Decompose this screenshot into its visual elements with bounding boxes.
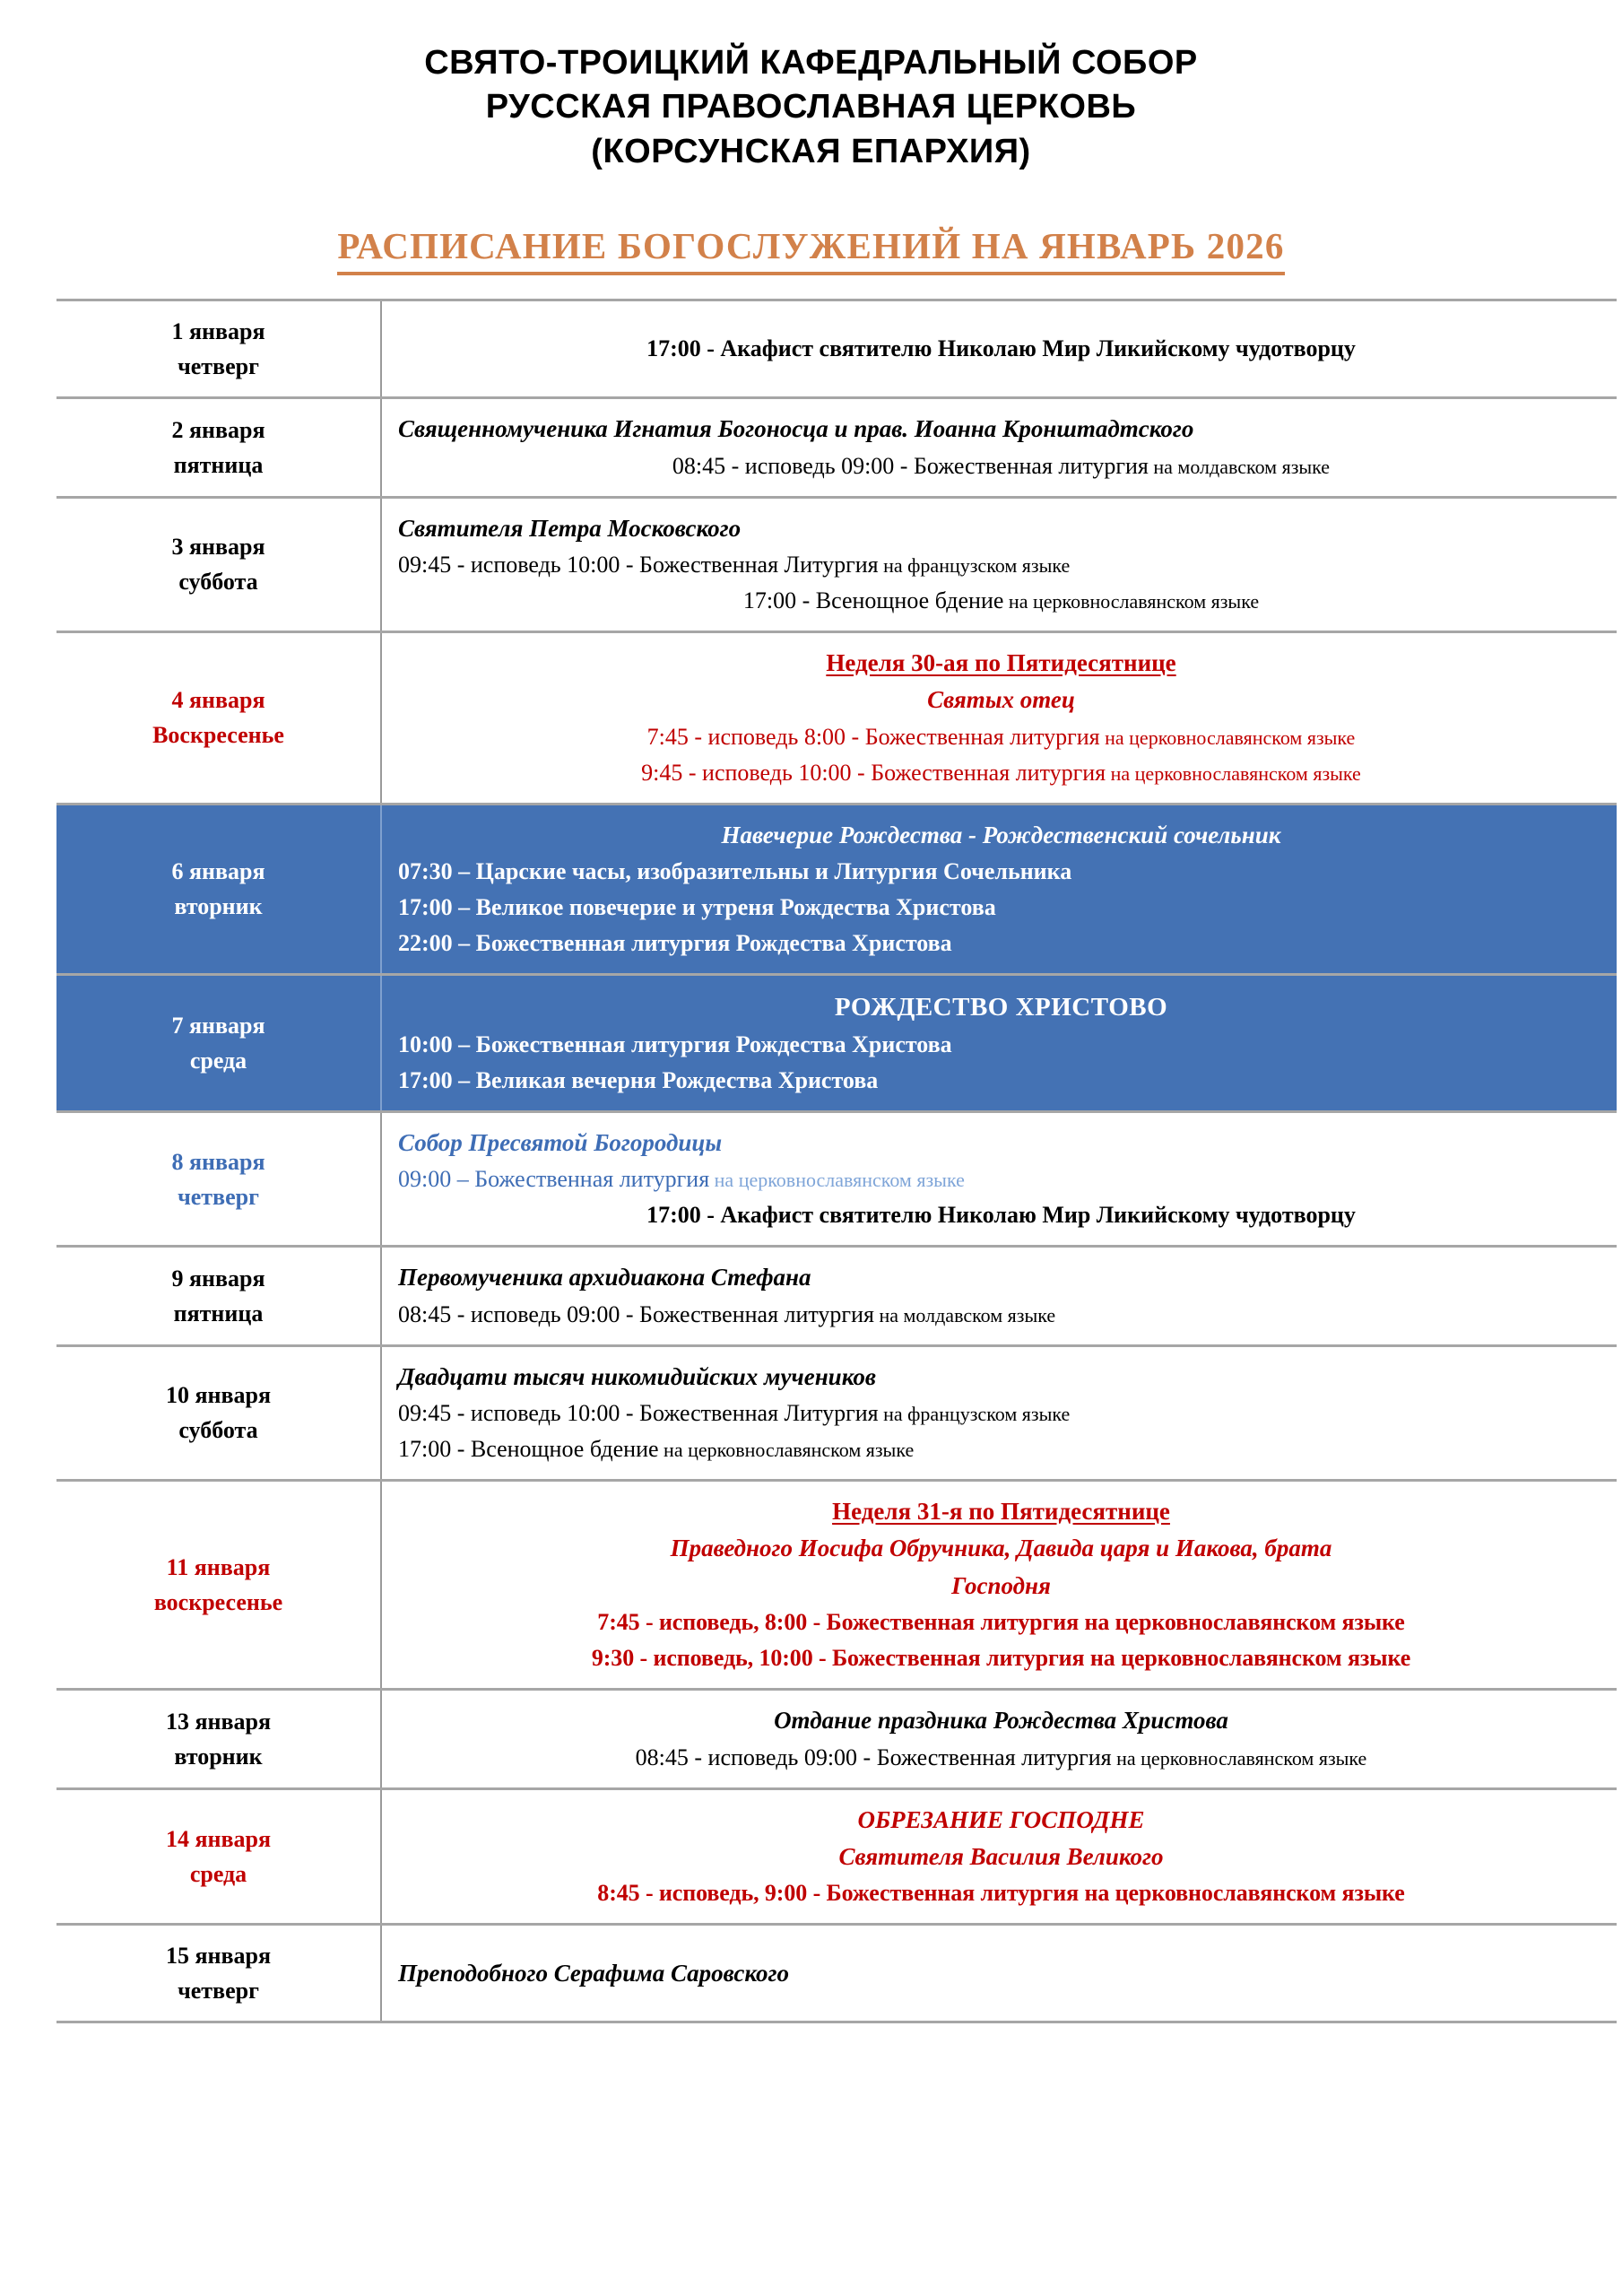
date-cell: 10 января суббота [56, 1345, 381, 1480]
date-weekday: четверг [65, 349, 371, 384]
date-weekday: вторник [65, 1739, 371, 1774]
service-line: 9:45 - исповедь 10:00 - Божественная лит… [398, 756, 1604, 790]
service-line: 17:00 - Акафист святителю Николаю Мир Ли… [398, 332, 1604, 366]
services-cell: Собор Пресвятой Богородицы 09:00 – Божес… [381, 1112, 1617, 1247]
service-line: 8:45 - исповедь, 9:00 - Божественная лит… [398, 1876, 1604, 1910]
date-cell: 4 января Воскресенье [56, 631, 381, 804]
services-cell: ОБРЕЗАНИЕ ГОСПОДНЕ Святителя Василия Вел… [381, 1788, 1617, 1925]
service-language: на церковнославянском языке [709, 1169, 965, 1191]
date-weekday: воскресенье [65, 1585, 371, 1620]
date-cell: 14 января среда [56, 1788, 381, 1925]
services-cell: Двадцати тысяч никомидийских мучеников 0… [381, 1345, 1617, 1480]
services-cell: 17:00 - Акафист святителю Николаю Мир Ли… [381, 300, 1617, 398]
feast-subheading: Святителя Василия Великого [398, 1839, 1604, 1874]
date-day: 2 января [65, 413, 371, 448]
date-day: 11 января [65, 1550, 371, 1585]
service-text: 17:00 - Всенощное бдение [743, 587, 1004, 613]
date-day: 9 января [65, 1261, 371, 1296]
date-weekday: пятница [65, 1296, 371, 1331]
date-weekday: суббота [65, 1413, 371, 1448]
services-cell: Отдание праздника Рождества Христова 08:… [381, 1690, 1617, 1788]
service-language: на церковнославянском языке [1106, 762, 1361, 785]
feast-heading: Отдание праздника Рождества Христова [398, 1703, 1604, 1738]
cathedral-name-line-1: СВЯТО-ТРОИЦКИЙ КАФЕДРАЛЬНЫЙ СОБОР [0, 41, 1622, 85]
services-cell: Первомученика архидиакона Стефана 08:45 … [381, 1247, 1617, 1345]
feast-heading: Преподобного Серафима Саровского [398, 1956, 1604, 1991]
date-cell: 8 января четверг [56, 1112, 381, 1247]
table-row: 4 января Воскресенье Неделя 30-ая по Пят… [56, 631, 1617, 804]
table-row: 14 января среда ОБРЕЗАНИЕ ГОСПОДНЕ Святи… [56, 1788, 1617, 1925]
service-line: 17:00 - Всенощное бдение на церковнослав… [398, 1432, 1604, 1466]
services-cell: Преподобного Серафима Саровского [381, 1925, 1617, 2022]
schedule-page: СВЯТО-ТРОИЦКИЙ КАФЕДРАЛЬНЫЙ СОБОР РУССКА… [0, 0, 1622, 2296]
schedule-table-body: 1 января четверг 17:00 - Акафист святите… [56, 300, 1617, 2022]
service-line: 22:00 – Божественная литургия Рождества … [398, 926, 1604, 961]
date-day: 14 января [65, 1822, 371, 1857]
service-line: 9:30 - исповедь, 10:00 - Божественная ли… [398, 1641, 1604, 1675]
date-day: 7 января [65, 1008, 371, 1043]
sunday-heading: Неделя 31-я по Пятидесятнице [398, 1494, 1604, 1529]
date-cell: 11 января воскресенье [56, 1481, 381, 1690]
service-language: на молдавском языке [1149, 456, 1330, 478]
service-text: 08:45 - исповедь 09:00 - Божественная ли… [636, 1744, 1112, 1770]
date-cell: 9 января пятница [56, 1247, 381, 1345]
date-day: 13 января [65, 1704, 371, 1739]
service-text: 09:45 - исповедь 10:00 - Божественная Ли… [398, 552, 879, 578]
service-line: 17:00 – Великая вечерня Рождества Христо… [398, 1064, 1604, 1098]
service-line: 17:00 – Великое повечерие и утреня Рожде… [398, 891, 1604, 925]
service-line: 08:45 - исповедь 09:00 - Божественная ли… [398, 1741, 1604, 1775]
feast-heading: Навечерие Рождества - Рождественский соч… [398, 818, 1604, 853]
service-line: 09:45 - исповедь 10:00 - Божественная Ли… [398, 1396, 1604, 1431]
services-cell: Неделя 30-ая по Пятидесятнице Святых оте… [381, 631, 1617, 804]
service-line: 17:00 - Всенощное бдение на церковнослав… [398, 584, 1604, 618]
services-cell: РОЖДЕСТВО ХРИСТОВО 10:00 – Божественная … [381, 974, 1617, 1111]
date-weekday: пятница [65, 448, 371, 483]
service-line: 09:00 – Божественная литургия на церковн… [398, 1162, 1604, 1196]
date-weekday: среда [65, 1857, 371, 1892]
church-name-line-2: РУССКАЯ ПРАВОСЛАВНАЯ ЦЕРКОВЬ [0, 85, 1622, 129]
date-day: 6 января [65, 854, 371, 889]
table-row: 9 января пятница Первомученика архидиако… [56, 1247, 1617, 1345]
service-language: на французском языке [879, 554, 1071, 577]
date-weekday: суббота [65, 564, 371, 599]
service-text: 08:45 - исповедь 09:00 - Божественная ли… [398, 1301, 874, 1327]
service-text: 08:45 - исповедь 09:00 - Божественная ли… [672, 453, 1149, 479]
service-text: 09:45 - исповедь 10:00 - Божественная Ли… [398, 1400, 879, 1426]
date-day: 1 января [65, 314, 371, 349]
services-cell: Священномученика Игнатия Богоносца и пра… [381, 398, 1617, 497]
date-day: 10 января [65, 1378, 371, 1413]
schedule-title-container: РАСПИСАНИЕ БОГОСЛУЖЕНИЙ НА ЯНВАРЬ 2026 [0, 224, 1622, 275]
date-weekday: вторник [65, 889, 371, 924]
feast-heading: Праведного Иосифа Обручника, Давида царя… [398, 1531, 1604, 1566]
feast-heading: Святых отец [398, 683, 1604, 717]
table-row: 13 января вторник Отдание праздника Рожд… [56, 1690, 1617, 1788]
feast-heading-cont: Господня [398, 1569, 1604, 1604]
date-day: 8 января [65, 1144, 371, 1179]
feast-heading: РОЖДЕСТВО ХРИСТОВО [398, 988, 1604, 1026]
service-language: на французском языке [879, 1403, 1071, 1425]
service-text: 9:45 - исповедь 10:00 - Божественная лит… [641, 760, 1106, 786]
service-schedule-table: 1 января четверг 17:00 - Акафист святите… [56, 299, 1617, 2023]
table-row: 2 января пятница Священномученика Игнати… [56, 398, 1617, 497]
sunday-heading: Неделя 30-ая по Пятидесятнице [398, 646, 1604, 681]
table-row: 8 января четверг Собор Пресвятой Богород… [56, 1112, 1617, 1247]
date-day: 3 января [65, 529, 371, 564]
date-day: 15 января [65, 1938, 371, 1973]
date-weekday: Воскресенье [65, 717, 371, 752]
date-cell: 3 января суббота [56, 497, 381, 631]
feast-heading: Первомученика архидиакона Стефана [398, 1260, 1604, 1295]
service-line: 08:45 - исповедь 09:00 - Божественная ли… [398, 1298, 1604, 1332]
service-line: 07:30 – Царские часы, изобразительны и Л… [398, 855, 1604, 889]
service-line: 7:45 - исповедь, 8:00 - Божественная лит… [398, 1605, 1604, 1639]
service-language: на церковнославянском языке [1112, 1747, 1367, 1770]
feast-heading: Священномученика Игнатия Богоносца и пра… [398, 412, 1604, 447]
table-row: 1 января четверг 17:00 - Акафист святите… [56, 300, 1617, 398]
schedule-title: РАСПИСАНИЕ БОГОСЛУЖЕНИЙ НА ЯНВАРЬ 2026 [337, 224, 1284, 275]
feast-heading: Святителя Петра Московского [398, 511, 1604, 546]
diocese-name-line-3: (КОРСУНСКАЯ ЕПАРХИЯ) [0, 130, 1622, 174]
service-text: 17:00 - Всенощное бдение [398, 1436, 659, 1462]
service-line: 17:00 - Акафист святителю Николаю Мир Ли… [398, 1198, 1604, 1232]
feast-heading: Собор Пресвятой Богородицы [398, 1126, 1604, 1161]
masthead: СВЯТО-ТРОИЦКИЙ КАФЕДРАЛЬНЫЙ СОБОР РУССКА… [0, 0, 1622, 174]
date-cell: 7 января среда [56, 974, 381, 1111]
date-cell: 6 января вторник [56, 804, 381, 974]
date-weekday: четверг [65, 1179, 371, 1214]
service-language: на церковнославянском языке [659, 1439, 915, 1461]
table-row: 11 января воскресенье Неделя 31-я по Пят… [56, 1481, 1617, 1690]
table-row: 3 января суббота Святителя Петра Московс… [56, 497, 1617, 631]
service-line: 08:45 - исповедь 09:00 - Божественная ли… [398, 449, 1604, 483]
feast-heading: Двадцати тысяч никомидийских мучеников [398, 1360, 1604, 1395]
service-line: 09:45 - исповедь 10:00 - Божественная Ли… [398, 548, 1604, 582]
date-cell: 1 января четверг [56, 300, 381, 398]
date-cell: 15 января четверг [56, 1925, 381, 2022]
date-day: 4 января [65, 683, 371, 717]
services-cell: Неделя 31-я по Пятидесятнице Праведного … [381, 1481, 1617, 1690]
table-row: 7 января среда РОЖДЕСТВО ХРИСТОВО 10:00 … [56, 974, 1617, 1111]
table-row: 15 января четверг Преподобного Серафима … [56, 1925, 1617, 2022]
service-line: 7:45 - исповедь 8:00 - Божественная литу… [398, 720, 1604, 754]
service-language: на молдавском языке [874, 1304, 1055, 1326]
service-line: 10:00 – Божественная литургия Рождества … [398, 1028, 1604, 1062]
table-row: 10 января суббота Двадцати тысяч никомид… [56, 1345, 1617, 1480]
service-language: на церковнославянском языке [1100, 726, 1356, 749]
services-cell: Святителя Петра Московского 09:45 - испо… [381, 497, 1617, 631]
services-cell: Навечерие Рождества - Рождественский соч… [381, 804, 1617, 974]
date-weekday: среда [65, 1043, 371, 1078]
service-text: 7:45 - исповедь 8:00 - Божественная литу… [647, 724, 1100, 750]
date-weekday: четверг [65, 1973, 371, 2008]
table-row: 6 января вторник Навечерие Рождества - Р… [56, 804, 1617, 974]
service-text: 09:00 – Божественная литургия [398, 1166, 709, 1192]
feast-heading: ОБРЕЗАНИЕ ГОСПОДНЕ [398, 1803, 1604, 1838]
date-cell: 2 января пятница [56, 398, 381, 497]
service-language: на церковнославянском языке [1003, 590, 1259, 613]
date-cell: 13 января вторник [56, 1690, 381, 1788]
